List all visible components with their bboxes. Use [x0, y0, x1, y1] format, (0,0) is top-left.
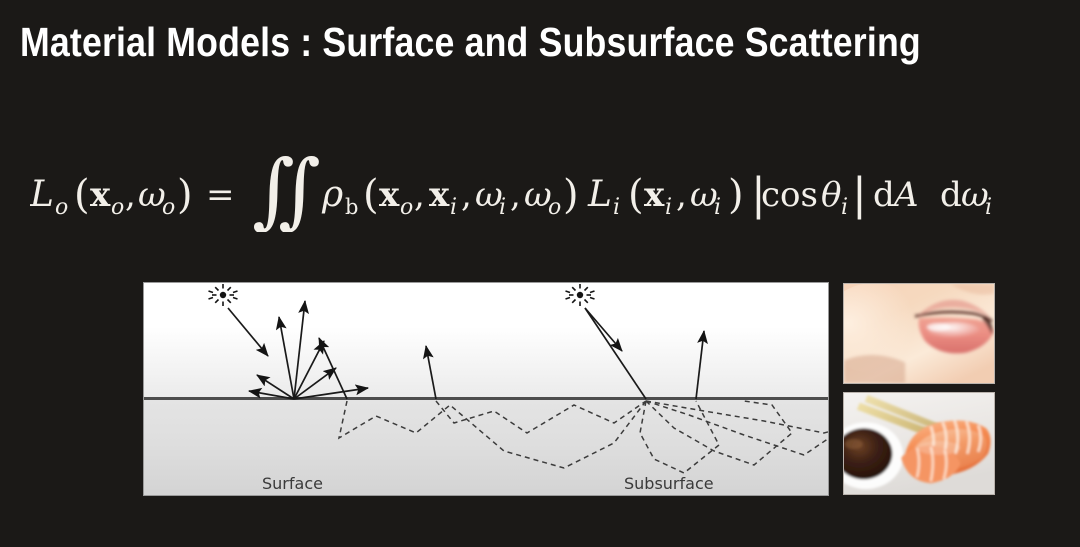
right-light-source — [566, 284, 595, 306]
left-incoming-ray — [228, 308, 268, 356]
photo-skin-lips-image — [844, 284, 994, 383]
photo-salmon-sashimi — [843, 392, 995, 495]
svg-text:,: , — [676, 175, 687, 215]
svg-text:(: ( — [628, 172, 644, 218]
svg-text:,: , — [125, 175, 136, 215]
svg-text:): ) — [563, 172, 579, 218]
svg-text:L: L — [587, 174, 612, 215]
svg-text:i: i — [841, 195, 848, 220]
svg-text:): ) — [177, 172, 193, 218]
svg-text:i: i — [450, 195, 457, 220]
svg-text:i: i — [499, 195, 506, 220]
svg-text:o: o — [111, 195, 124, 220]
svg-text:b: b — [345, 195, 358, 219]
left-light-source — [209, 284, 238, 306]
svg-text:,: , — [510, 175, 521, 215]
svg-text:x: x — [429, 175, 450, 215]
scattering-figure: Surface Subsurface — [143, 282, 829, 496]
svg-text:o: o — [400, 195, 413, 220]
rendering-equation: L o ( x o , ω o ) = ∫ ∫ ρ b ( x o , — [30, 148, 1070, 228]
svg-text:i: i — [665, 195, 672, 220]
photo-skin-lips — [843, 283, 995, 384]
svg-text:cos: cos — [761, 175, 818, 215]
right-incoming-ray — [585, 308, 646, 399]
scattering-rays-svg — [144, 283, 829, 496]
svg-text:|: | — [852, 169, 867, 220]
svg-text:(: ( — [74, 172, 90, 218]
svg-text:θ: θ — [821, 175, 841, 215]
svg-text:x: x — [90, 175, 111, 215]
svg-text:ρ: ρ — [321, 174, 343, 215]
page-title: Material Models : Surface and Subsurface… — [20, 17, 921, 67]
svg-text:x: x — [644, 175, 665, 215]
slide-root: Material Models : Surface and Subsurface… — [0, 0, 1080, 547]
svg-text:i: i — [985, 195, 992, 220]
svg-text:=: = — [206, 175, 235, 215]
label-subsurface: Subsurface — [624, 474, 714, 493]
right-outgoing-rays — [319, 291, 829, 399]
svg-text:A: A — [891, 175, 919, 215]
svg-text:x: x — [379, 175, 400, 215]
svg-text:i: i — [714, 195, 721, 220]
subsurface-dashed-paths — [339, 401, 829, 488]
svg-text:,: , — [414, 175, 425, 215]
photo-salmon-sashimi-image — [844, 393, 994, 494]
svg-text:L: L — [30, 174, 54, 215]
svg-text:i: i — [613, 195, 620, 220]
label-surface: Surface — [262, 474, 323, 493]
left-outgoing-rays — [249, 301, 368, 399]
svg-text:o: o — [162, 195, 175, 220]
equation-svg: L o ( x o , ω o ) = ∫ ∫ ρ b ( x o , — [30, 148, 1070, 232]
svg-text:o: o — [548, 195, 561, 220]
svg-text:o: o — [55, 195, 68, 220]
svg-text:,: , — [461, 175, 472, 215]
svg-text:(: ( — [363, 172, 379, 218]
svg-text:d: d — [873, 175, 895, 215]
svg-text:d: d — [940, 175, 962, 215]
svg-text:): ) — [728, 172, 744, 218]
svg-text:∫: ∫ — [278, 148, 321, 232]
